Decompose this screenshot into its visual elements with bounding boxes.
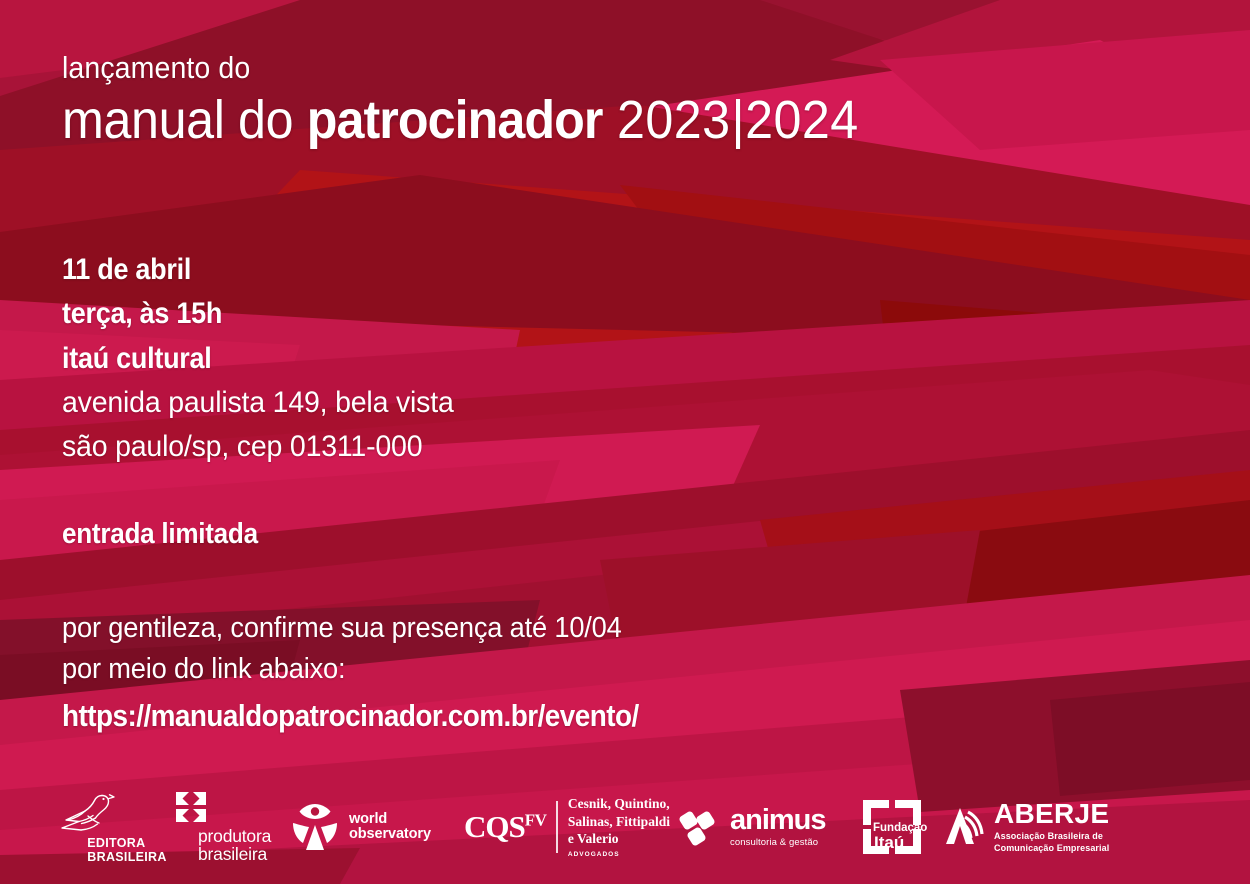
- rsvp-block: por gentileza, confirme sua presença até…: [62, 608, 703, 734]
- logo-divider: [556, 801, 558, 853]
- logo-world-observatory-label: world observatory: [349, 812, 431, 842]
- headline-year-start: 2023: [617, 90, 731, 150]
- title-block: lançamento do manual do patrocinador 202…: [62, 52, 919, 148]
- limited-entry-notice: entrada limitada: [62, 518, 258, 551]
- logo-produtora-brasileira-label: produtora brasileira: [198, 827, 271, 864]
- logo-cqs-fv-label: Cesnik, Quintino, Salinas, Fittipaldi e …: [568, 795, 670, 859]
- headline-year-end: 2024: [745, 90, 859, 150]
- event-address-line-1: avenida paulista 149, bela vista: [62, 381, 454, 425]
- bird-icon: [57, 790, 119, 836]
- poster-content: lançamento do manual do patrocinador 202…: [0, 0, 1250, 884]
- event-poster: lançamento do manual do patrocinador 202…: [0, 0, 1250, 884]
- logo-world-observatory: world observatory: [284, 801, 464, 853]
- logo-cqs-fv: CQSFV Cesnik, Quintino, Salinas, Fittipa…: [464, 795, 679, 859]
- logo-animus-subtitle: consultoria & gestão: [730, 837, 818, 848]
- logo-animus: animus consultoria & gestão: [679, 805, 839, 849]
- event-venue: itaú cultural: [62, 337, 433, 381]
- rsvp-line-1: por gentileza, confirme sua presença até…: [62, 608, 664, 649]
- rsvp-line-2: por meio do link abaixo:: [62, 649, 664, 690]
- event-details: 11 de abril terça, às 15h itaú cultural …: [62, 248, 474, 468]
- aberje-mark-icon: [944, 806, 988, 848]
- partner-logos-strip: EDITORA BRASILEIRA produtora brasileira: [58, 784, 1198, 870]
- cqs-wordmark: CQSFV: [464, 809, 546, 845]
- logo-animus-name: animus: [730, 806, 826, 835]
- eye-figure-icon: [290, 801, 340, 853]
- event-date: 11 de abril: [62, 248, 433, 292]
- logo-aberje: ABERJE Associação Brasileira de Comunica…: [944, 800, 1119, 854]
- logo-produtora-brasileira: produtora brasileira: [166, 791, 284, 864]
- logo-aberje-subtitle: Associação Brasileira de Comunicação Emp…: [994, 831, 1109, 854]
- event-address-line-2: são paulo/sp, cep 01311-000: [62, 425, 454, 469]
- logo-editora-brasileira-label: EDITORA BRASILEIRA: [87, 837, 166, 863]
- rsvp-url-link[interactable]: https://manualdopatrocinador.com.br/even…: [62, 698, 639, 734]
- logo-cqs-fv-subtitle: ADVOGADOS: [568, 851, 670, 859]
- logo-aberje-name: ABERJE: [994, 800, 1109, 828]
- itau-bracket-icon: Fundação Itaú: [855, 796, 929, 858]
- bowtie-icon: [174, 791, 208, 825]
- headline-regular: manual do: [62, 90, 307, 150]
- logo-fundacao-itau: Fundação Itaú: [839, 796, 944, 858]
- event-weekday-time: terça, às 15h: [62, 292, 433, 336]
- logo-editora-brasileira: EDITORA BRASILEIRA: [58, 790, 166, 863]
- headline-bold: patrocinador: [307, 90, 603, 150]
- rhombus-icon: [679, 805, 723, 849]
- kicker-text: lançamento do: [62, 52, 850, 83]
- logo-fundacao-itau-line2: Itaú: [874, 833, 904, 852]
- page-title: manual do patrocinador 2023|2024: [62, 92, 859, 148]
- headline-year-separator: |: [731, 90, 746, 150]
